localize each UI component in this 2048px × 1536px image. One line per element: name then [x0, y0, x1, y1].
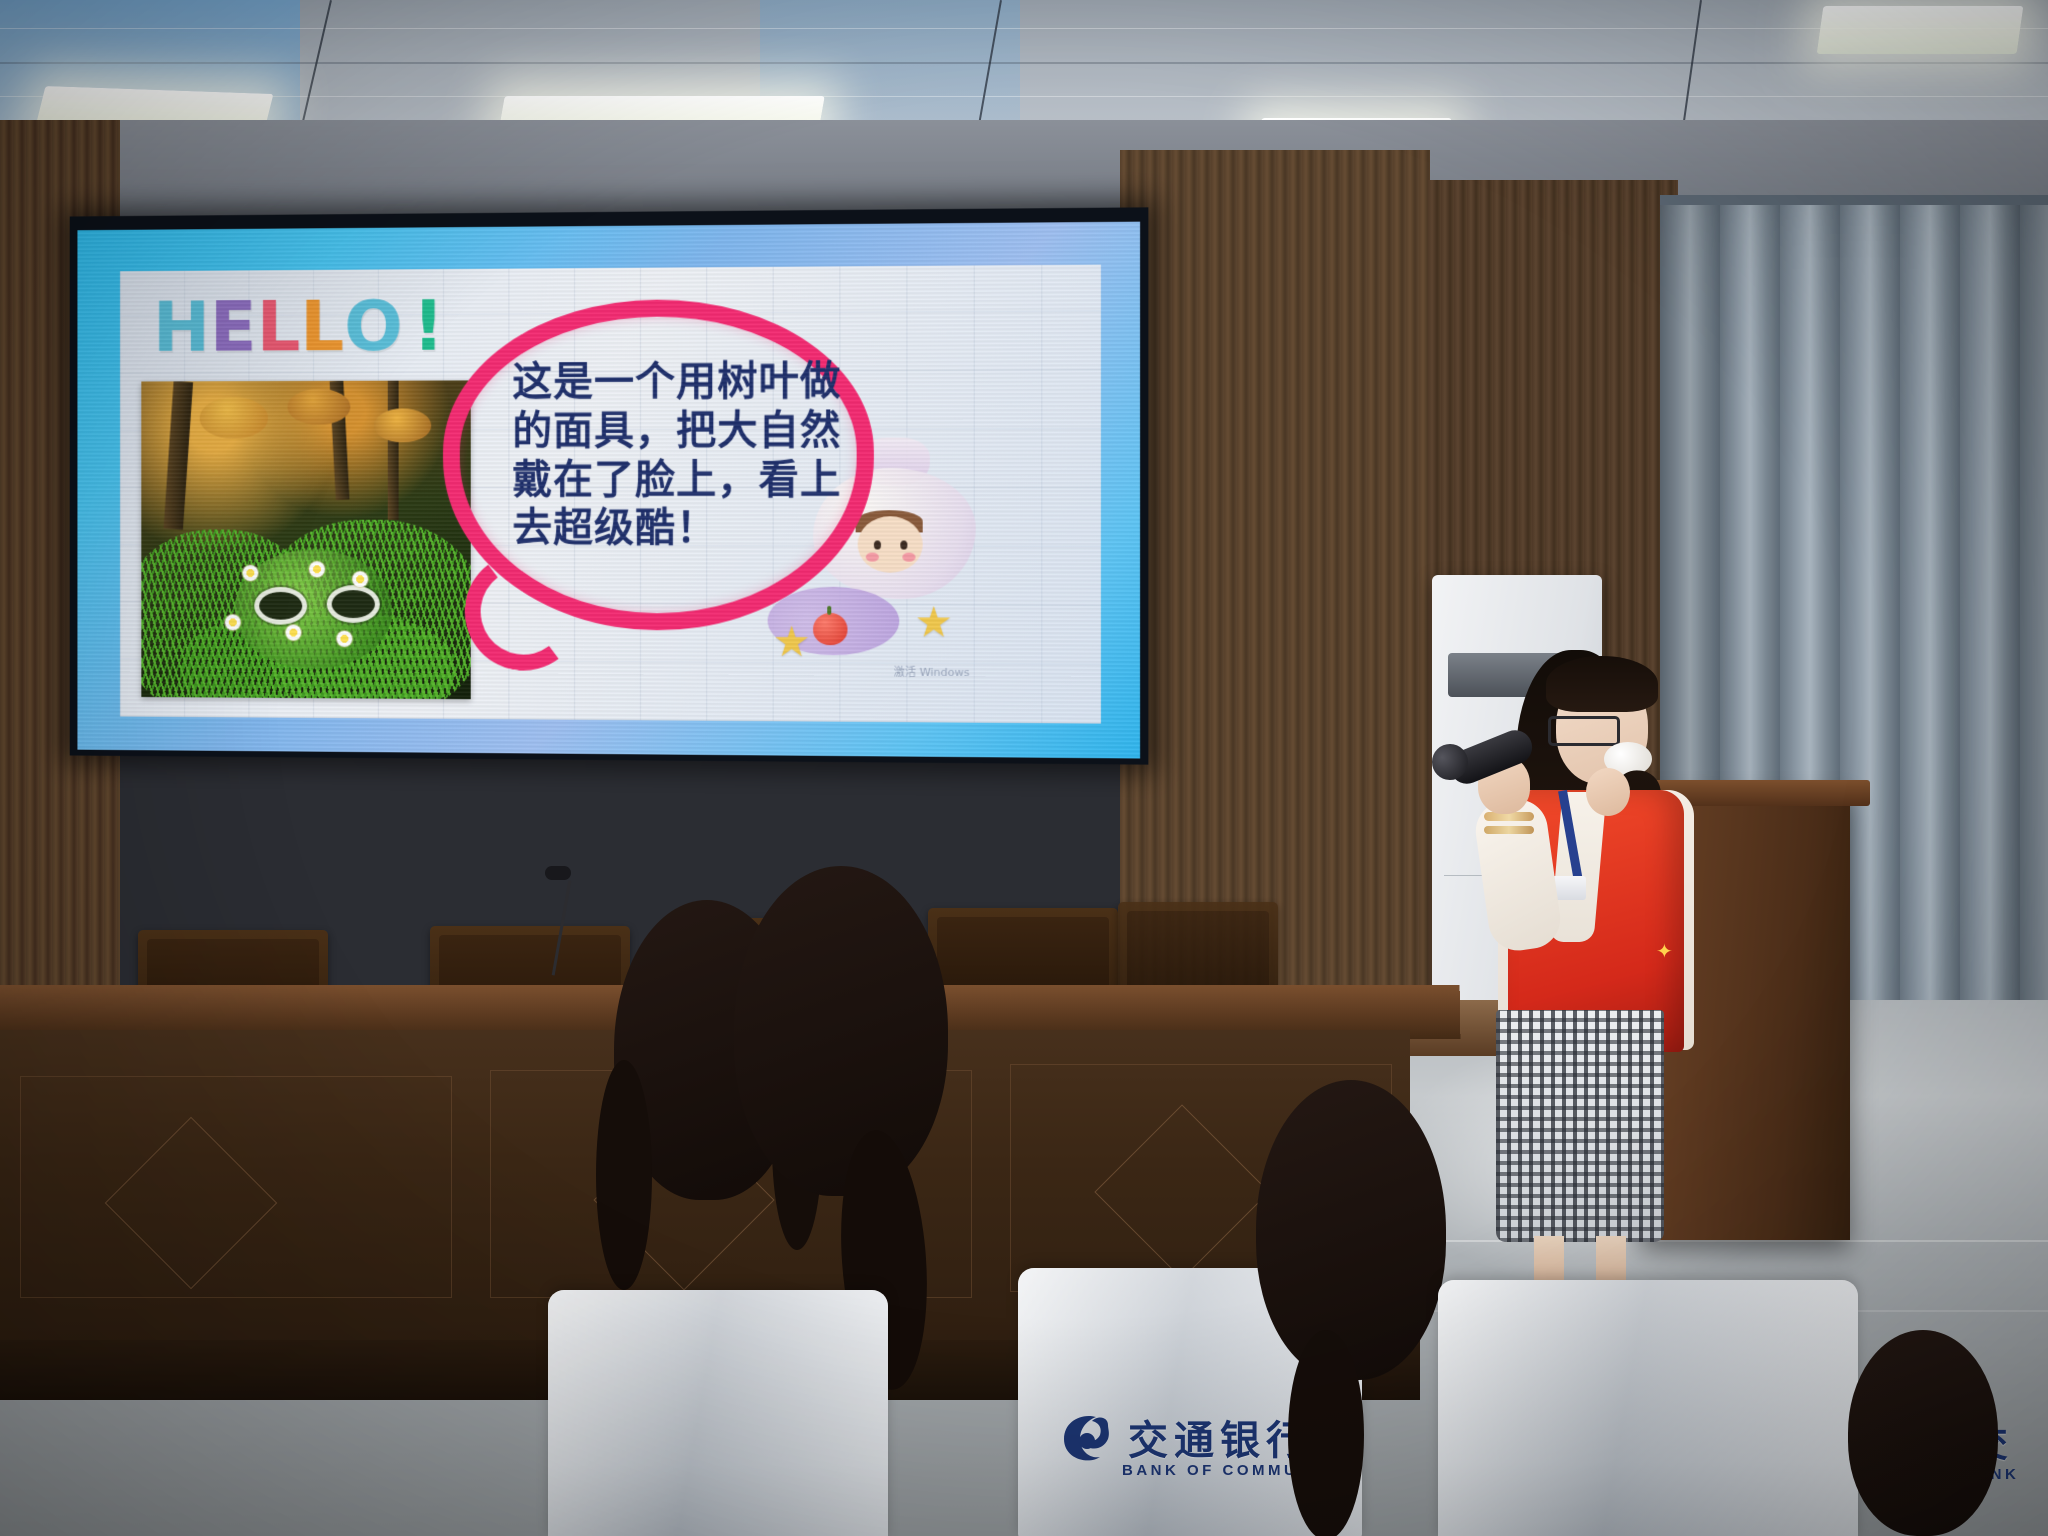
presenter-skirt — [1496, 1010, 1664, 1242]
hello-letter-excl: ! — [403, 291, 442, 361]
hello-letter-o: O — [344, 291, 401, 361]
slide-heading: H E L L O ! — [153, 291, 442, 362]
auditorium-photo: H E L L O ! — [0, 0, 2048, 1536]
apple-decoration — [813, 613, 847, 645]
audience-ponytail-2 — [1288, 1330, 1364, 1536]
hello-letter-e: E — [210, 292, 255, 361]
presenter-bracelet-2 — [1484, 826, 1534, 834]
audience-head-4 — [1848, 1330, 1998, 1536]
ceiling-light-4 — [1817, 6, 2024, 54]
hello-letter-l1: L — [257, 292, 299, 362]
speech-bubble-text: 这是一个用树叶做 的面具，把大自然 戴在了脸上，看上 去超级酷！ — [512, 357, 843, 554]
bank-logo-chair-2: 交通银行 — [1058, 1408, 1312, 1466]
hello-letter-l2: L — [300, 292, 342, 362]
bubble-line-4: 去超级酷！ — [512, 504, 843, 553]
hello-letter-h: H — [153, 292, 208, 361]
bank-of-communications-icon — [1058, 1409, 1114, 1465]
presenter-hand-2 — [1586, 768, 1630, 816]
bubble-line-1: 这是一个用树叶做 — [512, 357, 843, 407]
bank-logo-chinese: 交通银行 — [1128, 1408, 1312, 1466]
audience-chair-cover-1 — [548, 1290, 888, 1536]
bubble-line-3: 戴在了脸上，看上 — [512, 455, 843, 504]
windows-watermark: 激活 Windows — [894, 664, 970, 681]
bubble-line-2: 的面具，把大自然 — [512, 406, 843, 455]
table-microphone-head — [545, 866, 571, 880]
presenter-glasses — [1548, 716, 1620, 746]
audience-chair-cover-3 — [1438, 1280, 1858, 1536]
audience-head-2 — [734, 866, 948, 1196]
presenter-bangs — [1546, 656, 1658, 712]
led-screen: H E L L O ! — [70, 207, 1149, 764]
leaf-mask-photo — [141, 380, 470, 699]
sheep-face — [858, 516, 923, 573]
star-decoration-1: ★ — [773, 621, 811, 663]
star-decoration-2: ★ — [915, 601, 953, 644]
vest-emblem-icon: ✦ — [1656, 942, 1680, 964]
presentation-slide: H E L L O ! — [120, 265, 1101, 724]
audience-head-3 — [1256, 1080, 1446, 1380]
center-wood-wall — [1120, 150, 1430, 1030]
led-screen-surface: H E L L O ! — [77, 222, 1140, 759]
